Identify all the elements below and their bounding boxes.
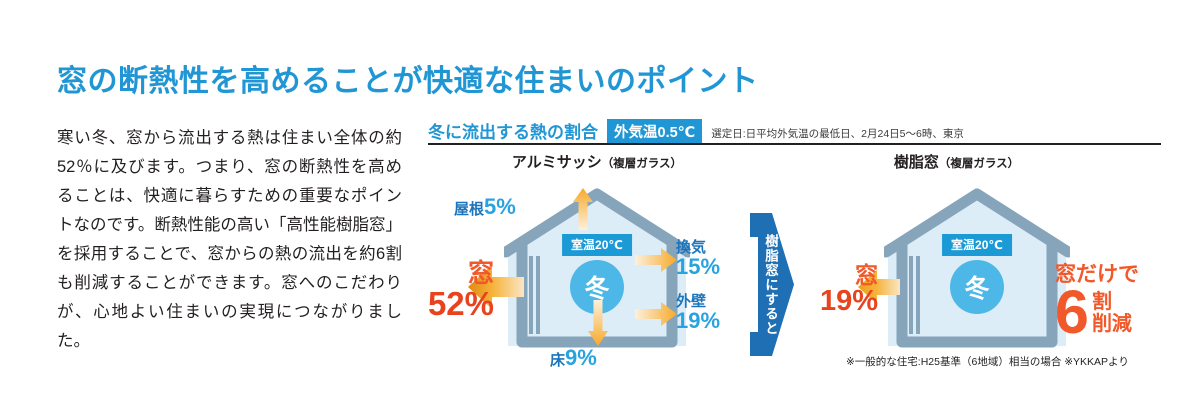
label-floor: 床9% bbox=[550, 347, 597, 369]
reduction-unit: 割 bbox=[1092, 292, 1132, 313]
house-stage-resin-window: 室温20℃ 冬 窓 19% bbox=[818, 172, 1161, 362]
heat-arrow-ventilation bbox=[635, 248, 677, 277]
label-ventilation-value: 15% bbox=[676, 256, 720, 278]
heat-arrow-floor bbox=[587, 300, 609, 351]
body-paragraph: 寒い冬、窓から流出する熱は住まい全体の約52％に及びます。つまり、窓の断熱性を高… bbox=[57, 124, 402, 356]
house-block-resin-window: 樹脂窓（複層ガラス） 室温20℃ 冬 bbox=[818, 151, 1161, 362]
page-title: 窓の断熱性を高めることが快適な住まいのポイント bbox=[57, 56, 759, 100]
panel-header-title: 冬に流出する熱の割合 bbox=[428, 118, 598, 143]
label-window-name-aluminum: 窓 bbox=[422, 260, 494, 287]
heat-arrow-wall bbox=[635, 302, 677, 331]
reduction-words: 割 削減 bbox=[1092, 292, 1132, 337]
panel-header: 冬に流出する熱の割合 外気温0.5℃ 選定日:日平均外気温の最低日、2月24日5… bbox=[428, 118, 1161, 142]
house-title-resin-window: 樹脂窓（複層ガラス） bbox=[752, 151, 1161, 172]
label-window-value-resin: 19% bbox=[810, 287, 878, 317]
label-ventilation-name: 換気 bbox=[676, 240, 706, 255]
heat-arrow-roof bbox=[572, 188, 594, 235]
label-wall-name: 外壁 bbox=[676, 294, 706, 309]
label-roof-name: 屋根 bbox=[454, 201, 484, 218]
house-title-main: アルミサッシ bbox=[512, 154, 602, 171]
panel-footnote: ※一般的な住宅:H25基準（6地域）相当の場合 ※YKKAPより bbox=[846, 354, 1129, 369]
reduction-callout: 窓だけで 6 割 削減 bbox=[1055, 264, 1139, 337]
label-floor-name: 床 bbox=[550, 352, 565, 369]
outdoor-temp-badge: 外気温0.5℃ bbox=[607, 119, 702, 145]
heat-loss-panel: 冬に流出する熱の割合 外気温0.5℃ 選定日:日平均外気温の最低日、2月24日5… bbox=[428, 118, 1161, 383]
house-title-sub: （複層ガラス） bbox=[602, 158, 682, 170]
house-title-main-resin: 樹脂窓 bbox=[894, 154, 939, 171]
house-stage-aluminum-sash: 室温20℃ 冬 bbox=[432, 172, 762, 362]
reduction-word: 削減 bbox=[1092, 314, 1132, 335]
label-roof-value: 5% bbox=[484, 194, 516, 219]
label-ventilation: 換気 15% bbox=[676, 240, 720, 278]
label-window-resin: 窓 19% bbox=[810, 264, 878, 317]
reduction-number: 6 bbox=[1055, 287, 1089, 337]
transition-arrow: 樹脂窓にすると bbox=[750, 213, 794, 356]
label-window-name-resin: 窓 bbox=[810, 264, 878, 287]
room-temp-badge-aluminum: 室温20℃ bbox=[562, 234, 632, 256]
season-circle-resin: 冬 bbox=[950, 260, 1004, 314]
label-wall: 外壁 19% bbox=[676, 294, 720, 332]
label-window-aluminum: 窓 52% bbox=[422, 260, 494, 320]
reduction-figure: 6 割 削減 bbox=[1055, 287, 1139, 337]
house-title-aluminum-sash: アルミサッシ（複層ガラス） bbox=[432, 151, 762, 172]
label-window-value-aluminum: 52% bbox=[422, 287, 494, 321]
label-wall-value: 19% bbox=[676, 310, 720, 332]
panel-measurement-note: 選定日:日平均外気温の最低日、2月24日5〜6時、東京 bbox=[711, 126, 964, 141]
house-block-aluminum-sash: アルミサッシ（複層ガラス） 室温20℃ 冬 bbox=[432, 151, 762, 362]
room-temp-badge-resin: 室温20℃ bbox=[942, 234, 1012, 256]
label-floor-value: 9% bbox=[565, 345, 597, 370]
panel-divider bbox=[428, 143, 1161, 145]
label-roof: 屋根5% bbox=[454, 196, 516, 218]
transition-arrow-label: 樹脂窓にすると bbox=[750, 213, 790, 356]
house-title-sub-resin: （複層ガラス） bbox=[939, 158, 1019, 170]
